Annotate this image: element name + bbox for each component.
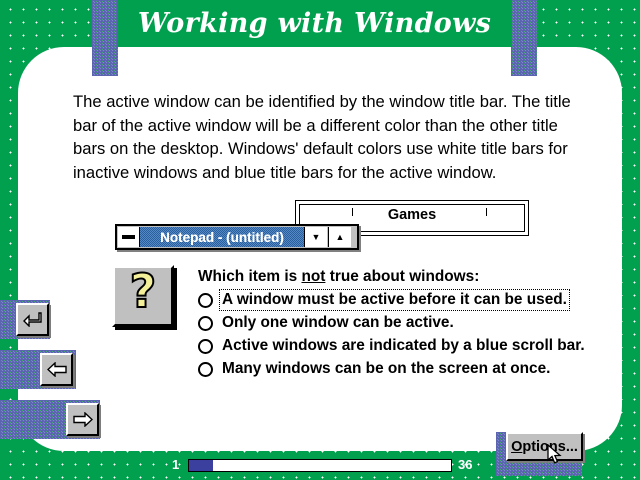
progress-fill bbox=[189, 460, 213, 471]
minimize-box-icon[interactable] bbox=[118, 227, 140, 247]
banner-tab-right bbox=[511, 0, 537, 76]
next-button[interactable] bbox=[66, 403, 99, 436]
left-arrow-icon bbox=[47, 362, 67, 377]
progress-bar: 1 36 bbox=[0, 457, 640, 475]
answer-option-label[interactable]: Active windows are indicated by a blue s… bbox=[220, 336, 587, 356]
window-notepad-titlebar[interactable]: Notepad - (untitled) bbox=[140, 227, 304, 247]
question-stem-suffix: true about windows: bbox=[325, 268, 479, 285]
radio-button[interactable] bbox=[198, 362, 213, 377]
scroll-up-icon[interactable]: ▲ bbox=[328, 227, 351, 247]
scroll-down-icon[interactable]: ▼ bbox=[304, 227, 327, 247]
page-title: Working with Windows bbox=[117, 0, 512, 47]
body-paragraph: The active window can be identified by t… bbox=[73, 90, 593, 184]
progress-min-label: 1 bbox=[172, 457, 179, 472]
question-stem-emphasis: not bbox=[301, 268, 325, 285]
radio-button[interactable] bbox=[198, 339, 213, 354]
options-button-accel: O bbox=[511, 439, 522, 455]
answer-option[interactable]: Active windows are indicated by a blue s… bbox=[198, 334, 587, 358]
right-arrow-icon bbox=[73, 412, 93, 427]
window-notepad-active[interactable]: Notepad - (untitled) ▼ ▲ bbox=[115, 224, 359, 250]
answer-option[interactable]: Only one window can be active. bbox=[198, 311, 456, 335]
question-stem-prefix: Which item is bbox=[198, 268, 301, 285]
question-mark-icon: ? bbox=[112, 265, 174, 327]
radio-button[interactable] bbox=[198, 316, 213, 331]
lesson-screen: Working with Windows The active window c… bbox=[0, 0, 640, 480]
answer-option-label[interactable]: A window must be active before it can be… bbox=[220, 290, 569, 310]
title-banner: Working with Windows bbox=[117, 0, 512, 47]
content-page-top-fill bbox=[92, 47, 536, 87]
window-games-title: Games bbox=[300, 207, 524, 223]
window-notepad-title: Notepad - (untitled) bbox=[160, 230, 284, 245]
question-stem: Which item is not true about windows: bbox=[198, 268, 479, 286]
question-glyph: ? bbox=[115, 263, 171, 319]
banner-tab-left bbox=[92, 0, 118, 76]
progress-track[interactable] bbox=[188, 459, 452, 472]
back-button[interactable] bbox=[40, 353, 73, 386]
answer-option[interactable]: Many windows can be on the screen at onc… bbox=[198, 357, 552, 381]
return-button[interactable] bbox=[16, 303, 49, 336]
return-arrow-icon bbox=[23, 312, 42, 327]
radio-button[interactable] bbox=[198, 293, 213, 308]
progress-max-label: 36 bbox=[458, 457, 472, 472]
answer-option-label[interactable]: Only one window can be active. bbox=[220, 313, 456, 333]
answer-option-label[interactable]: Many windows can be on the screen at onc… bbox=[220, 359, 552, 379]
answer-option[interactable]: A window must be active before it can be… bbox=[198, 288, 569, 312]
